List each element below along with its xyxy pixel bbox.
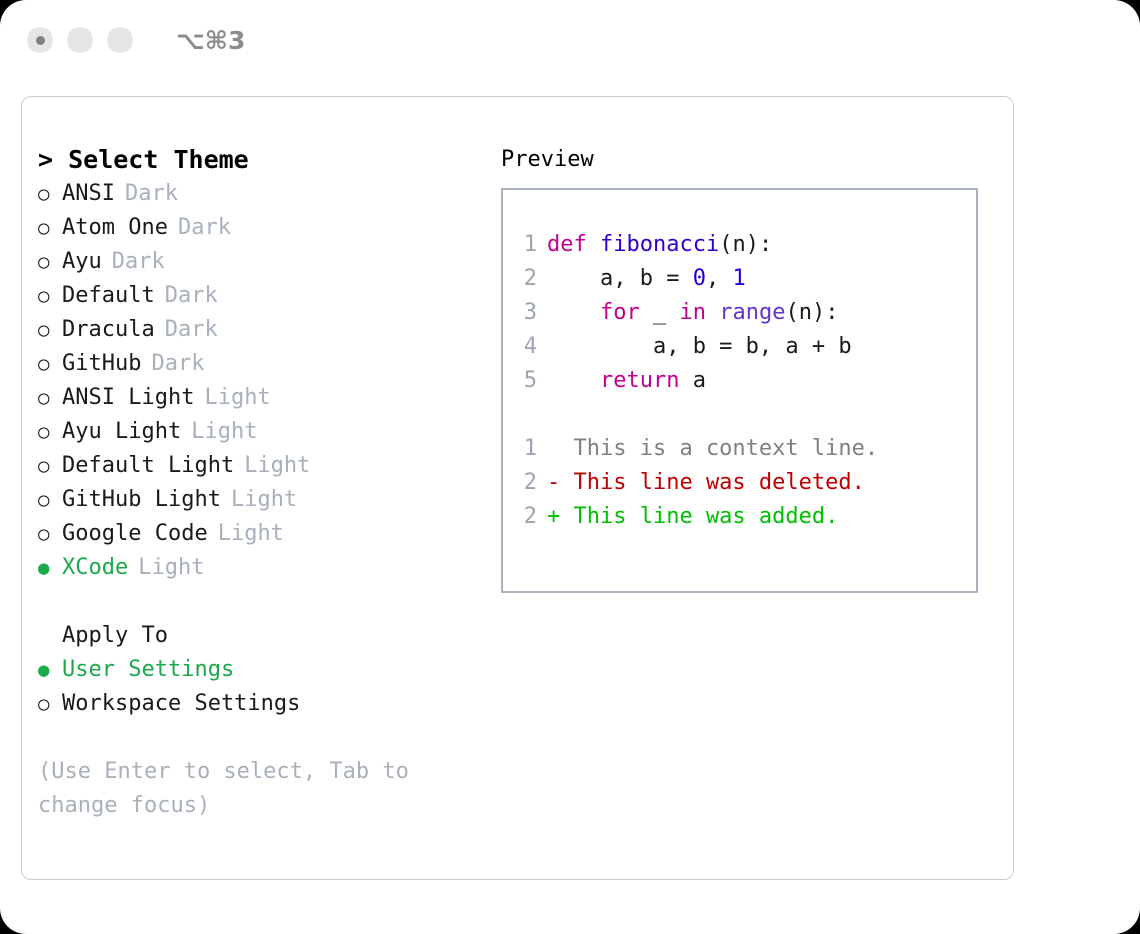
theme-option-google-code[interactable]: ○Google CodeLight bbox=[38, 517, 478, 551]
code-token-keyword: for bbox=[600, 300, 640, 325]
code-token-keyword: return bbox=[600, 368, 679, 393]
code-token-plain: (n): bbox=[785, 300, 838, 325]
theme-option-ansi[interactable]: ○ANSIDark bbox=[38, 177, 478, 211]
theme-option-label: GitHub Light bbox=[62, 483, 221, 517]
code-token-plain: a, b = b, a + b bbox=[547, 334, 852, 359]
code-line: 1def fibonacci(n): bbox=[503, 228, 976, 262]
apply-to-list: ●User Settings○Workspace Settings bbox=[38, 653, 478, 721]
title-bar: ⌥⌘3 bbox=[0, 0, 1140, 80]
theme-variant-badge: Light bbox=[231, 483, 297, 517]
theme-option-label: GitHub bbox=[62, 347, 141, 381]
theme-option-label: Atom One bbox=[62, 211, 168, 245]
apply-to-option-label: Workspace Settings bbox=[62, 687, 300, 721]
theme-list: ○ANSIDark○Atom OneDark○AyuDark○DefaultDa… bbox=[38, 177, 478, 585]
theme-variant-badge: Light bbox=[191, 415, 257, 449]
code-line: 5 return a bbox=[503, 364, 976, 398]
diff-sample: 1 This is a context line.2- This line wa… bbox=[503, 432, 976, 534]
code-line-number: 2 bbox=[503, 262, 547, 296]
code-sample: 1def fibonacci(n):2 a, b = 0, 13 for _ i… bbox=[503, 228, 976, 398]
radio-unselected-icon: ○ bbox=[38, 177, 62, 211]
code-token-number: 1 bbox=[732, 266, 745, 291]
theme-variant-badge: Dark bbox=[151, 347, 204, 381]
theme-variant-badge: Light bbox=[138, 551, 204, 585]
code-line: 2 a, b = 0, 1 bbox=[503, 262, 976, 296]
code-line-number: 3 bbox=[503, 296, 547, 330]
theme-option-default[interactable]: ○DefaultDark bbox=[38, 279, 478, 313]
code-line-number: 5 bbox=[503, 364, 547, 398]
theme-option-atom-one[interactable]: ○Atom OneDark bbox=[38, 211, 478, 245]
apply-to-option-workspace-settings[interactable]: ○Workspace Settings bbox=[38, 687, 478, 721]
theme-option-label: ANSI Light bbox=[62, 381, 194, 415]
theme-variant-badge: Dark bbox=[178, 211, 231, 245]
radio-unselected-icon: ○ bbox=[38, 517, 62, 551]
radio-unselected-icon: ○ bbox=[38, 245, 62, 279]
apply-to-option-user-settings[interactable]: ●User Settings bbox=[38, 653, 478, 687]
main-panel: > Select Theme ○ANSIDark○Atom OneDark○Ay… bbox=[21, 96, 1014, 880]
theme-option-label: Ayu bbox=[62, 245, 102, 279]
code-line-number: 4 bbox=[503, 330, 547, 364]
code-token-builtin: range bbox=[719, 300, 785, 325]
code-line-content: return a bbox=[547, 364, 706, 398]
theme-option-label: Default bbox=[62, 279, 155, 313]
code-line-content: for _ in range(n): bbox=[547, 296, 838, 330]
active-dot-icon bbox=[36, 36, 45, 45]
theme-option-label: Default Light bbox=[62, 449, 234, 483]
window-dot-third[interactable] bbox=[107, 27, 133, 53]
theme-variant-badge: Dark bbox=[125, 177, 178, 211]
preview-heading: Preview bbox=[501, 143, 996, 177]
code-token-keyword: in bbox=[679, 300, 706, 325]
hint-spacer bbox=[38, 721, 478, 755]
code-token-plain bbox=[706, 300, 719, 325]
diff-line-content: This is a context line. bbox=[547, 432, 878, 466]
radio-unselected-icon: ○ bbox=[38, 381, 62, 415]
apply-to-heading: Apply To bbox=[62, 619, 478, 653]
code-token-function: fibonacci bbox=[600, 232, 719, 257]
theme-option-ayu[interactable]: ○AyuDark bbox=[38, 245, 478, 279]
app-window: ⌥⌘3 > Select Theme ○ANSIDark○Atom OneDar… bbox=[0, 0, 1140, 934]
code-token-plain: _ bbox=[640, 300, 680, 325]
diff-line-content: + This line was added. bbox=[547, 500, 838, 534]
diff-line-deleted: 2- This line was deleted. bbox=[503, 466, 976, 500]
preview-column: Preview 1def fibonacci(n):2 a, b = 0, 13… bbox=[501, 143, 996, 593]
code-token-plain bbox=[547, 300, 600, 325]
theme-variant-badge: Light bbox=[204, 381, 270, 415]
diff-line-added: 2+ This line was added. bbox=[503, 500, 976, 534]
diff-line-number: 2 bbox=[503, 466, 547, 500]
select-theme-heading: > Select Theme bbox=[38, 143, 478, 177]
theme-variant-badge: Light bbox=[218, 517, 284, 551]
radio-unselected-icon: ○ bbox=[38, 449, 62, 483]
code-line-content: a, b = 0, 1 bbox=[547, 262, 746, 296]
keyboard-shortcut-label: ⌥⌘3 bbox=[176, 26, 245, 55]
code-token-keyword: def bbox=[547, 232, 600, 257]
radio-unselected-icon: ○ bbox=[38, 415, 62, 449]
theme-variant-badge: Dark bbox=[165, 313, 218, 347]
window-controls bbox=[27, 27, 133, 53]
code-line: 3 for _ in range(n): bbox=[503, 296, 976, 330]
theme-option-label: XCode bbox=[62, 551, 128, 585]
theme-option-label: Dracula bbox=[62, 313, 155, 347]
window-dot-active[interactable] bbox=[27, 27, 53, 53]
code-token-plain: a bbox=[679, 368, 706, 393]
radio-unselected-icon: ○ bbox=[38, 279, 62, 313]
theme-variant-badge: Light bbox=[244, 449, 310, 483]
code-line-content: def fibonacci(n): bbox=[547, 228, 772, 262]
theme-option-ansi-light[interactable]: ○ANSI LightLight bbox=[38, 381, 478, 415]
theme-option-label: Google Code bbox=[62, 517, 208, 551]
diff-line-number: 1 bbox=[503, 432, 547, 466]
code-token-plain: a, b = bbox=[547, 266, 693, 291]
theme-option-label: Ayu Light bbox=[62, 415, 181, 449]
diff-line-context: 1 This is a context line. bbox=[503, 432, 976, 466]
theme-option-label: ANSI bbox=[62, 177, 115, 211]
theme-option-default-light[interactable]: ○Default LightLight bbox=[38, 449, 478, 483]
theme-variant-badge: Dark bbox=[165, 279, 218, 313]
theme-selection-column: > Select Theme ○ANSIDark○Atom OneDark○Ay… bbox=[38, 143, 478, 823]
radio-unselected-icon: ○ bbox=[38, 687, 62, 721]
code-token-plain: , bbox=[706, 266, 733, 291]
code-line-number: 1 bbox=[503, 228, 547, 262]
radio-unselected-icon: ○ bbox=[38, 211, 62, 245]
radio-selected-icon: ● bbox=[38, 653, 62, 687]
radio-unselected-icon: ○ bbox=[38, 347, 62, 381]
list-spacer bbox=[38, 585, 478, 619]
theme-option-xcode[interactable]: ●XCodeLight bbox=[38, 551, 478, 585]
diff-line-content: - This line was deleted. bbox=[547, 466, 865, 500]
keyboard-hint-text: (Use Enter to select, Tab to change focu… bbox=[38, 755, 438, 823]
code-token-number: 0 bbox=[693, 266, 706, 291]
code-line: 4 a, b = b, a + b bbox=[503, 330, 976, 364]
radio-unselected-icon: ○ bbox=[38, 313, 62, 347]
code-token-plain: (n): bbox=[719, 232, 772, 257]
code-line-content: a, b = b, a + b bbox=[547, 330, 852, 364]
code-diff-separator bbox=[503, 398, 976, 432]
window-dot-second[interactable] bbox=[67, 27, 93, 53]
preview-box: 1def fibonacci(n):2 a, b = 0, 13 for _ i… bbox=[501, 188, 978, 593]
theme-option-github[interactable]: ○GitHubDark bbox=[38, 347, 478, 381]
apply-to-option-label: User Settings bbox=[62, 653, 234, 687]
radio-unselected-icon: ○ bbox=[38, 483, 62, 517]
code-token-plain bbox=[547, 368, 600, 393]
theme-option-ayu-light[interactable]: ○Ayu LightLight bbox=[38, 415, 478, 449]
theme-option-dracula[interactable]: ○DraculaDark bbox=[38, 313, 478, 347]
theme-option-github-light[interactable]: ○GitHub LightLight bbox=[38, 483, 478, 517]
theme-variant-badge: Dark bbox=[112, 245, 165, 279]
diff-line-number: 2 bbox=[503, 500, 547, 534]
radio-selected-icon: ● bbox=[38, 551, 62, 585]
